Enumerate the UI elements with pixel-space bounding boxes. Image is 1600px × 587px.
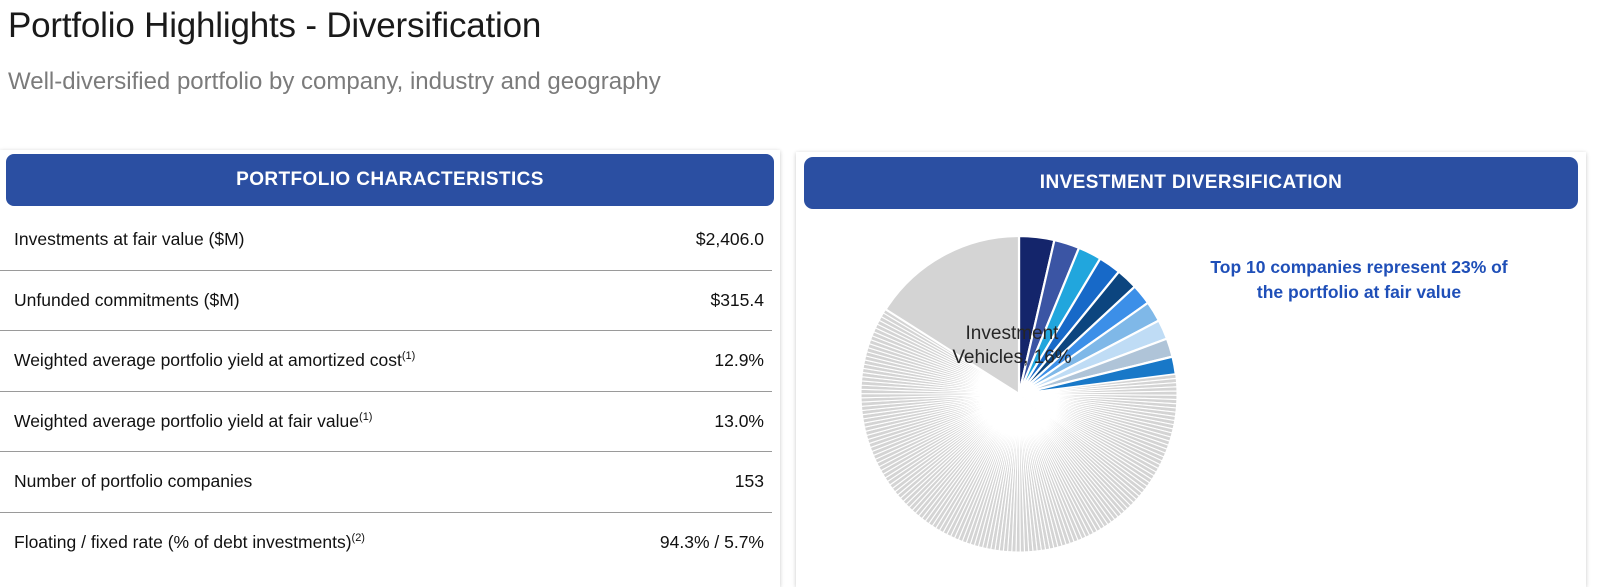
characteristic-label: Number of portfolio companies — [14, 471, 252, 492]
table-row: Investments at fair value ($M)$2,406.0 — [0, 210, 772, 271]
footnote-marker: (1) — [402, 350, 415, 362]
portfolio-characteristics-header: PORTFOLIO CHARACTERISTICS — [6, 154, 774, 206]
page-subtitle: Well-diversified portfolio by company, i… — [8, 68, 661, 96]
characteristic-value: 153 — [735, 471, 764, 492]
investment-diversification-header-label: INVESTMENT DIVERSIFICATION — [1040, 172, 1342, 194]
investment-diversification-header: INVESTMENT DIVERSIFICATION — [804, 157, 1578, 209]
page-title: Portfolio Highlights - Diversification — [8, 6, 541, 46]
table-row: Number of portfolio companies153 — [0, 452, 772, 513]
top10-callout-line2: the portfolio at fair value — [1194, 280, 1524, 305]
characteristic-value: $315.4 — [710, 290, 764, 311]
footnote-marker: (1) — [359, 411, 372, 423]
characteristic-value: 13.0% — [714, 411, 764, 432]
portfolio-characteristics-header-label: PORTFOLIO CHARACTERISTICS — [236, 169, 544, 191]
top10-callout: Top 10 companies represent 23% of the po… — [1194, 255, 1524, 304]
table-row: Weighted average portfolio yield at fair… — [0, 392, 772, 453]
table-row: Weighted average portfolio yield at amor… — [0, 331, 772, 392]
characteristic-value: 12.9% — [714, 350, 764, 371]
footnote-marker: (2) — [352, 532, 365, 544]
investment-diversification-card: INVESTMENT DIVERSIFICATION Investment Ve… — [796, 152, 1586, 587]
pie-svg — [854, 214, 1184, 587]
characteristic-label: Floating / fixed rate (% of debt investm… — [14, 532, 365, 553]
portfolio-characteristics-table: Investments at fair value ($M)$2,406.0Un… — [0, 210, 772, 573]
characteristic-value: 94.3% / 5.7% — [660, 532, 764, 553]
top10-callout-line1: Top 10 companies represent 23% of — [1194, 255, 1524, 280]
characteristic-label: Weighted average portfolio yield at fair… — [14, 411, 372, 432]
characteristic-label: Unfunded commitments ($M) — [14, 290, 240, 311]
diversification-pie-chart: Investment Vehicles, 16% — [854, 214, 1184, 587]
table-row: Unfunded commitments ($M)$315.4 — [0, 271, 772, 332]
table-row: Floating / fixed rate (% of debt investm… — [0, 513, 772, 574]
characteristic-label: Weighted average portfolio yield at amor… — [14, 350, 415, 371]
characteristic-label: Investments at fair value ($M) — [14, 229, 245, 250]
portfolio-characteristics-card: PORTFOLIO CHARACTERISTICS Investments at… — [0, 150, 780, 587]
characteristic-value: $2,406.0 — [696, 229, 764, 250]
